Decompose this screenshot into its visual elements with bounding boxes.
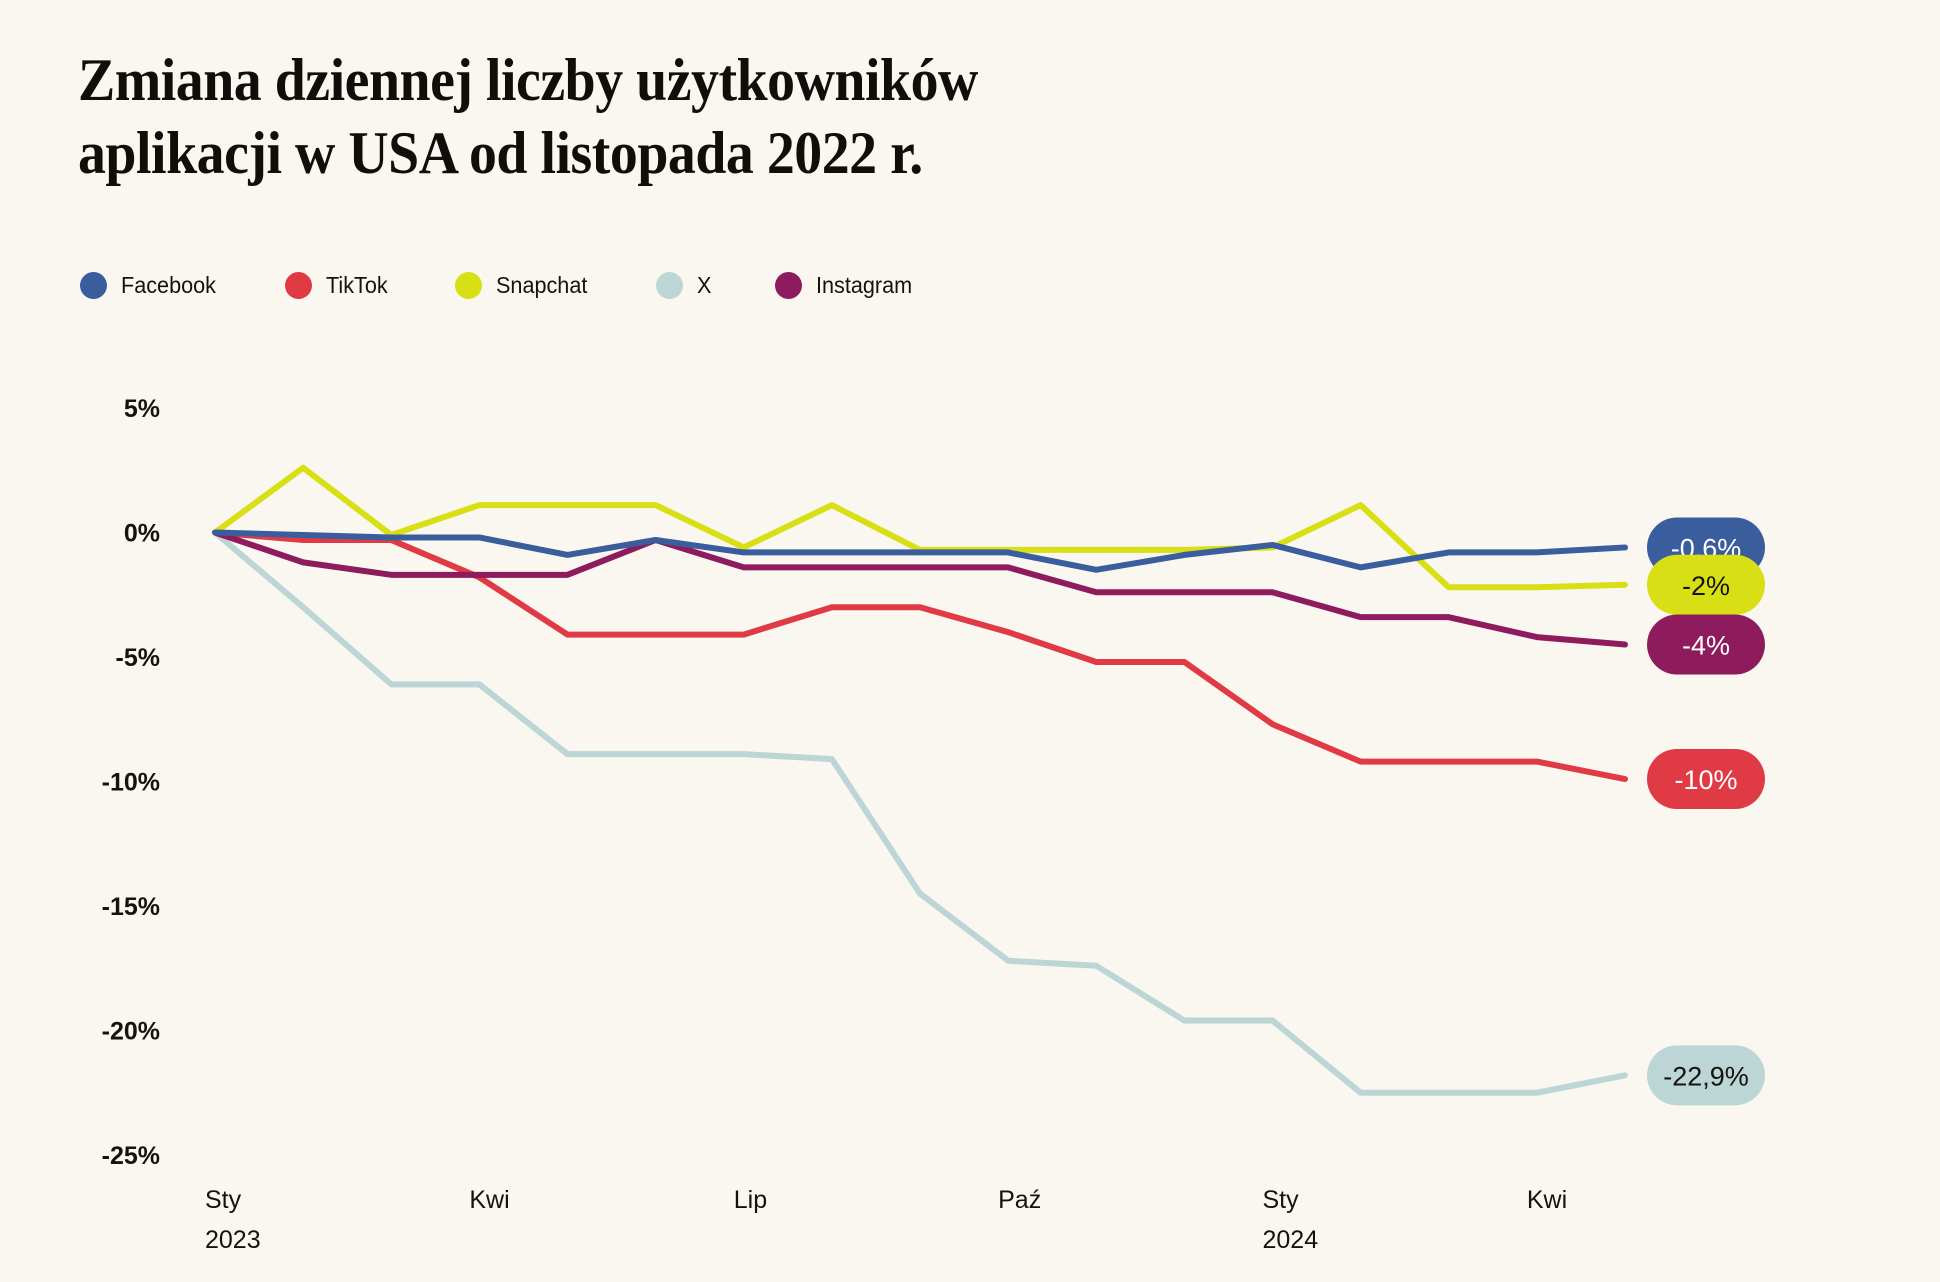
end-value-badge-label: -4%: [1682, 631, 1730, 661]
y-axis-tick-label: 0%: [124, 520, 160, 548]
end-value-badge-label: -2%: [1682, 571, 1730, 601]
y-axis-tick-label: 5%: [124, 395, 160, 423]
series-lines: [215, 468, 1625, 1093]
y-axis-tick-label: -15%: [102, 893, 160, 921]
y-axis-tick-label: -5%: [116, 644, 160, 672]
y-axis: 5%0%-5%-10%-15%-20%-25%: [102, 395, 160, 1170]
x-axis-tick-label: Kwi: [1527, 1186, 1567, 1214]
line-chart-svg: 5%0%-5%-10%-15%-20%-25% Sty2023KwiLipPaź…: [0, 0, 1940, 1282]
y-axis-tick-label: -25%: [102, 1142, 160, 1170]
x-axis-tick-year: 2023: [205, 1226, 261, 1254]
x-axis-tick-year: 2024: [1263, 1226, 1319, 1254]
x-axis-tick-label: Sty: [1263, 1186, 1300, 1214]
x-axis-tick-label: Lip: [734, 1186, 767, 1214]
chart-plot-area: 5%0%-5%-10%-15%-20%-25% Sty2023KwiLipPaź…: [0, 0, 1940, 1282]
y-axis-tick-label: -10%: [102, 769, 160, 797]
y-axis-tick-label: -20%: [102, 1018, 160, 1046]
x-axis: Sty2023KwiLipPaźSty2024Kwi: [205, 1186, 1567, 1254]
end-value-badge-label: -22,9%: [1663, 1061, 1749, 1091]
end-value-badge-label: -10%: [1674, 765, 1737, 795]
end-value-badges: -0,6%-2%-4%-10%-22,9%: [1647, 517, 1765, 1105]
x-axis-tick-label: Kwi: [469, 1186, 509, 1214]
x-axis-tick-label: Paź: [998, 1186, 1041, 1214]
x-axis-tick-label: Sty: [205, 1186, 242, 1214]
